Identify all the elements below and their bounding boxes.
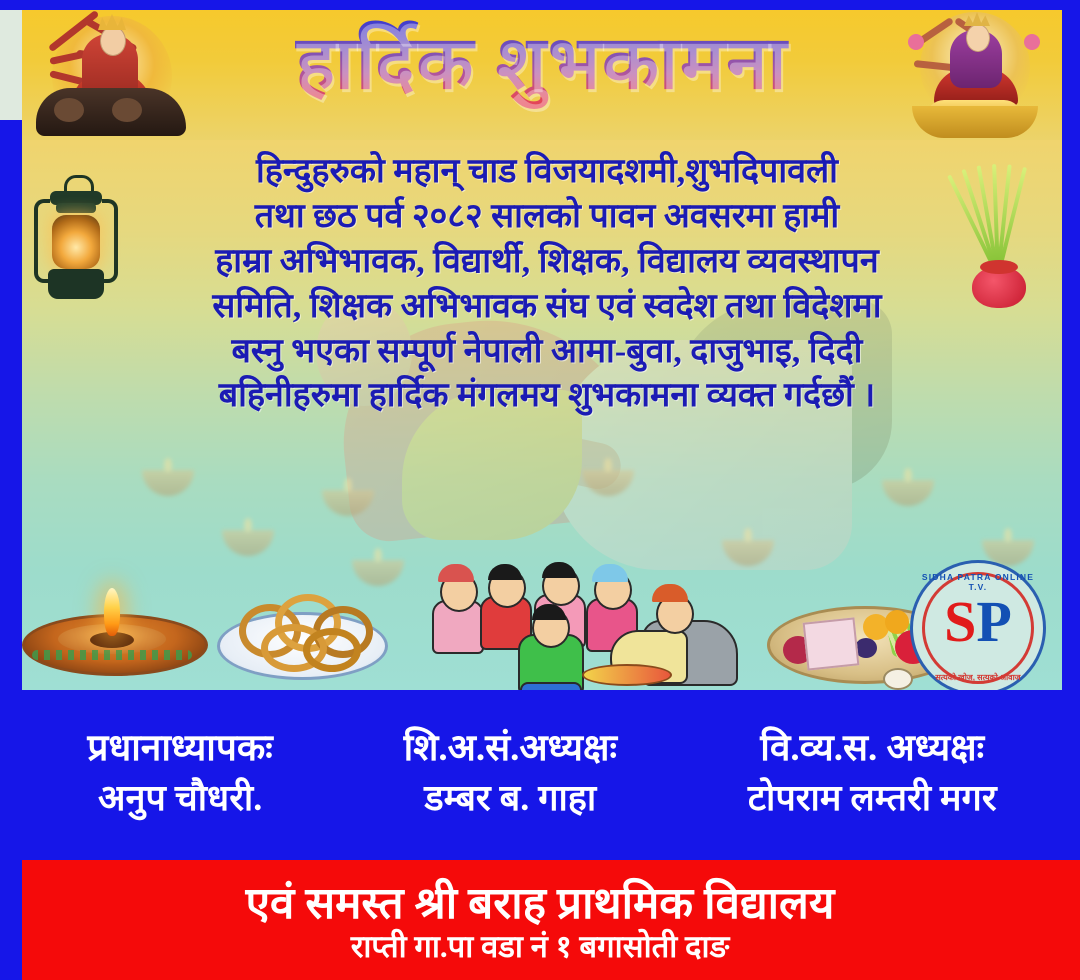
- signatory-name: टोपराम लम्तरी मगर: [748, 774, 997, 822]
- background-diya-icon: [142, 470, 194, 496]
- message-line: तथा छठ पर्व २०८२ सालको पावन अवसरमा हामी: [72, 195, 1022, 240]
- greeting-poster: हार्दिक शुभकामना: [0, 0, 1080, 980]
- page-title: हार्दिक शुभकामना: [295, 18, 788, 111]
- message-line: हाम्रा अभिभावक, विद्यार्थी, शिक्षक, विद्…: [72, 240, 1022, 285]
- frame-border-left: [0, 120, 22, 980]
- signatory-title: वि.व्य.स. अध्यक्षः: [748, 724, 997, 774]
- logo-bottom-arc-text: सत्यको खोज, सत्यको आवाज: [913, 672, 1043, 683]
- school-name: एवं समस्त श्री बराह प्राथमिक विद्यालय: [246, 879, 835, 928]
- signatory-column-smc-chair: वि.व्य.स. अध्यक्षः टोपराम लम्तरी मगर: [748, 724, 997, 822]
- signatory-column-headmaster: प्रधानाध्यापकः अनुप चौधरी.: [87, 724, 272, 822]
- kerosene-lantern-icon: [30, 175, 122, 315]
- signatory-title: शि.अ.सं.अध्यक्षः: [404, 724, 617, 774]
- message-line: हिन्दुहरुको महान् चाड विजयादशमी,शुभदिपाव…: [72, 150, 1022, 195]
- header-banner: हार्दिक शुभकामना: [22, 8, 1062, 140]
- school-footer: एवं समस्त श्री बराह प्राथमिक विद्यालय रा…: [0, 856, 1080, 980]
- signatory-column-pta-chair: शि.अ.सं.अध्यक्षः डम्बर ब. गाहा: [404, 724, 617, 822]
- greeting-message: हिन्दुहरुको महान् चाड विजयादशमी,शुभदिपाव…: [72, 150, 1022, 419]
- logo-mark: SP: [913, 593, 1043, 651]
- signatory-name: डम्बर ब. गाहा: [404, 774, 617, 822]
- jamara-sprouts-icon: [946, 150, 1046, 310]
- message-line: बहिनीहरुमा हार्दिक मंगलमय शुभकामना व्यक्…: [72, 374, 1022, 419]
- logo-letter-p: P: [976, 589, 1011, 654]
- festival-photo-row: SIDHA PATRA ONLINE T.V. SP सत्यको खोज, स…: [22, 540, 1062, 690]
- message-line: बस्नु भएका सम्पूर्ण नेपाली आमा-बुवा, दाज…: [72, 330, 1022, 375]
- frame-border-right: [1062, 0, 1080, 860]
- signatory-band: प्रधानाध्यापकः अनुप चौधरी. शि.अ.सं.अध्यक…: [22, 690, 1062, 856]
- sidha-patra-online-tv-logo: SIDHA PATRA ONLINE T.V. SP सत्यको खोज, स…: [910, 560, 1046, 696]
- signatory-name: अनुप चौधरी.: [87, 774, 272, 822]
- dashain-tika-family-icon: [422, 546, 752, 686]
- school-address: राप्ती गा.पा वडा नं १ बगासोती दाङ: [351, 928, 730, 965]
- lakshmi-goddess-icon: [894, 10, 1054, 140]
- oil-lamp-diya-icon: [22, 588, 202, 674]
- signatory-title: प्रधानाध्यापकः: [87, 724, 272, 774]
- frame-border-top: [0, 0, 1080, 10]
- logo-letter-s: S: [944, 589, 976, 654]
- jalebi-plate-icon: [217, 584, 382, 676]
- message-line: समिति, शिक्षक अभिभावक संघ एवं स्वदेश तथा…: [72, 285, 1022, 330]
